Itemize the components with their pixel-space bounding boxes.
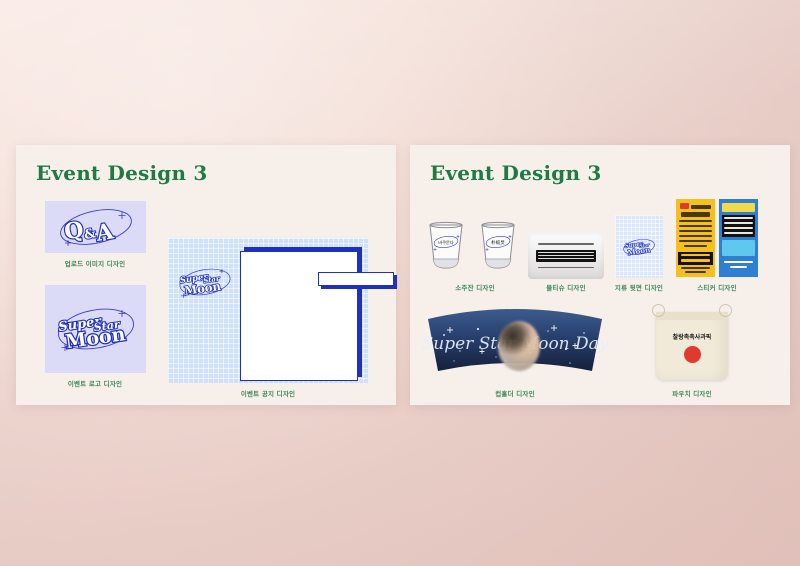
sticker-yellow <box>676 199 715 277</box>
wipe-footline <box>538 267 594 268</box>
svg-text:A: A <box>92 218 115 247</box>
pouch-string-left <box>652 304 665 317</box>
event-logo-mark: Super Star Moon <box>45 285 146 373</box>
sticker-blue-mid-block <box>722 240 755 256</box>
pouch-print-text: 찰랑촉촉사과픽 <box>650 332 734 341</box>
glass-left-text: 바쿠문다 <box>438 239 454 246</box>
svg-text:Q: Q <box>62 216 85 245</box>
soju-glass-left-icon: 바쿠문다 <box>424 221 468 273</box>
caption-soju-glass: 소주잔 디자인 <box>455 282 495 292</box>
cup-holder-thumbnail[interactable]: Super Star Moon Day <box>420 305 610 385</box>
sticker-yellow-black-band <box>678 252 713 265</box>
pouch-thumbnail[interactable]: 찰랑촉촉사과픽 <box>650 300 734 382</box>
wet-wipe-thumbnail[interactable] <box>528 233 604 279</box>
sticker-blue-black-band <box>722 215 755 237</box>
event-notice-thumbnail[interactable]: Super Star Moon <box>168 238 368 383</box>
slide-right[interactable]: Event Design 3 바쿠문다 朴蛟炅 소주잔 디자인 <box>410 145 790 405</box>
upload-image-thumbnail[interactable]: Q & A <box>45 201 146 253</box>
caption-pouch: 파우치 디자인 <box>672 388 712 398</box>
paper-back-logo-svg: Super Star Moon <box>621 235 657 259</box>
caption-paper-back: 지류 뒷면 디자인 <box>615 282 663 292</box>
slide-left-title: Event Design 3 <box>36 161 207 185</box>
wipe-black-band <box>536 250 596 262</box>
sticker-yellow-badge <box>680 203 689 209</box>
cup-holder-photo <box>498 321 540 371</box>
sticker-thumbnail[interactable] <box>676 199 758 277</box>
paper-back-thumbnail[interactable]: Super Star Moon <box>615 215 663 278</box>
qa-logo: Q & A <box>45 201 146 253</box>
sticker-blue-headline <box>722 203 755 212</box>
event-logo-thumbnail[interactable]: Super Star Moon <box>45 285 146 373</box>
caption-cup-holder: 컵홀더 디자인 <box>495 388 535 398</box>
sticker-blue-footer <box>722 259 755 273</box>
qa-logo-svg: Q & A <box>52 204 140 250</box>
pouch-string-right <box>719 304 732 317</box>
caption-upload-image: 업로드 이미지 디자인 <box>65 258 126 268</box>
caption-sticker: 스티커 디자인 <box>697 282 737 292</box>
slide-left[interactable]: Event Design 3 Q & A 업로드 이미지 디자인 <box>16 145 396 405</box>
soju-glass-right-icon: 朴蛟炅 <box>476 221 520 273</box>
pouch-apple-dot <box>684 346 701 363</box>
sticker-blue <box>719 199 758 277</box>
pouch-drawstring-band <box>656 312 728 320</box>
sticker-yellow-footer <box>678 266 713 275</box>
sticker-yellow-headline-block <box>676 199 715 251</box>
notice-window[interactable] <box>240 251 358 381</box>
event-logo-svg: Super Star Moon <box>50 298 142 360</box>
glass-right-text: 朴蛟炅 <box>491 239 505 246</box>
wipe-headline <box>538 243 594 245</box>
caption-event-notice: 이벤트 공지 디자인 <box>241 388 295 398</box>
caption-event-logo: 이벤트 로고 디자인 <box>68 378 122 388</box>
notice-logo-svg: Super Star Moon <box>174 262 236 302</box>
notice-input-field[interactable] <box>318 272 394 286</box>
caption-wet-wipe: 물티슈 디자인 <box>546 282 586 292</box>
soju-glass-thumbnail[interactable]: 바쿠문다 朴蛟炅 <box>422 217 527 277</box>
slide-right-title: Event Design 3 <box>430 161 601 185</box>
